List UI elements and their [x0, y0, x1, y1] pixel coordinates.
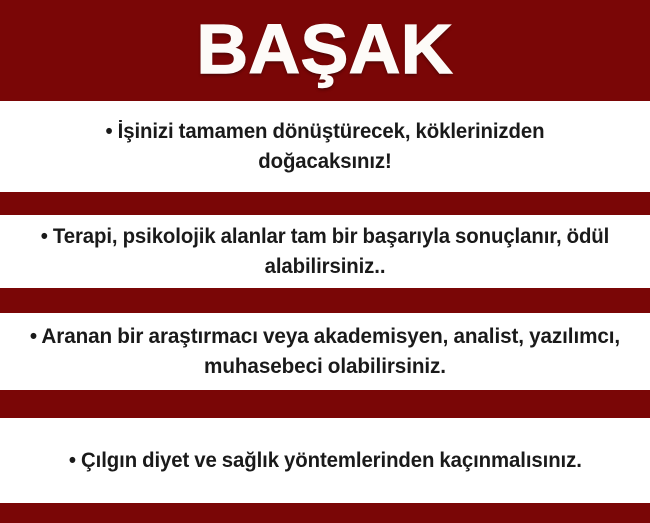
horoscope-panel-3: • Aranan bir araştırmacı veya akademisye… [0, 313, 650, 390]
divider-stripe-2 [0, 288, 650, 313]
horoscope-panel-2: • Terapi, psikolojik alanlar tam bir baş… [0, 215, 650, 288]
horoscope-bullet-text: • Aranan bir araştırmacı veya akademisye… [5, 322, 645, 382]
horoscope-poster: BAŞAK • İşinizi tamamen dönüştürecek, kö… [0, 0, 650, 523]
poster-header-band: BAŞAK [0, 0, 650, 101]
horoscope-bullet-text: • Çılgın diyet ve sağlık yöntemlerinden … [69, 446, 582, 476]
divider-stripe-3 [0, 390, 650, 418]
zodiac-sign-title: BAŞAK [197, 14, 453, 88]
horoscope-bullet-text: • Terapi, psikolojik alanlar tam bir baş… [34, 222, 616, 282]
divider-stripe-1 [0, 192, 650, 215]
horoscope-panel-4: • Çılgın diyet ve sağlık yöntemlerinden … [0, 418, 650, 503]
divider-stripe-footer [0, 503, 650, 523]
horoscope-panel-1: • İşinizi tamamen dönüştürecek, köklerin… [0, 101, 650, 192]
horoscope-bullet-text: • İşinizi tamamen dönüştürecek, köklerin… [53, 117, 596, 177]
